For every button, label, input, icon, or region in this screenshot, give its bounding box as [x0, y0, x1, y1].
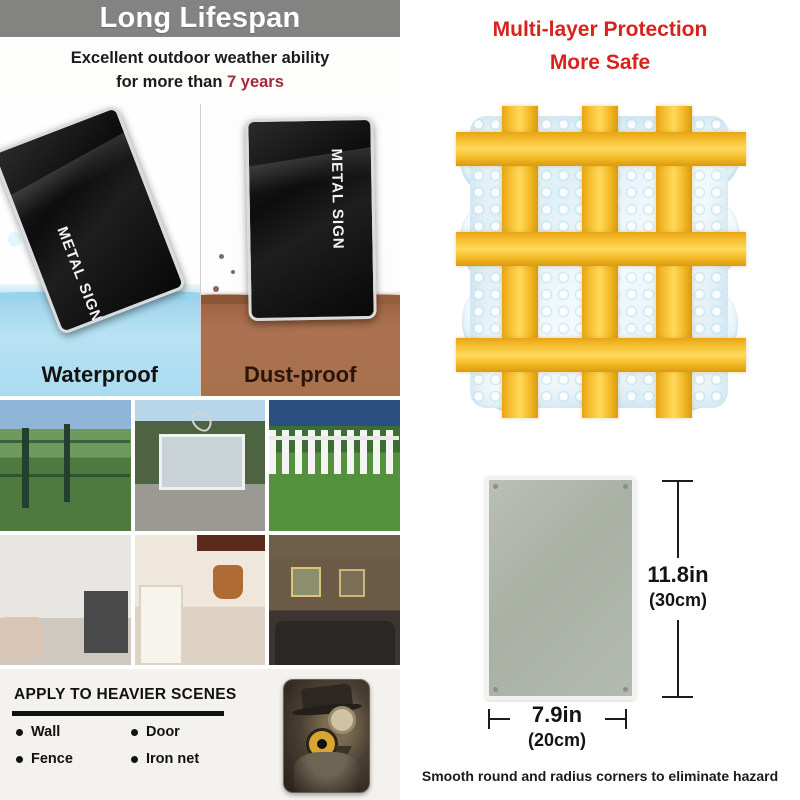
- width-value-inches: 7.9in: [501, 702, 613, 727]
- dust-speck: [231, 270, 235, 274]
- picket-rail: [269, 436, 399, 440]
- scene-bullet-list: Wall Door Fence Iron net: [16, 724, 246, 767]
- bullet-dot-icon: [16, 756, 23, 763]
- sofa: [275, 621, 395, 665]
- packaging-photo: [460, 110, 738, 415]
- left-column: Long Lifespan Excellent outdoor weather …: [0, 0, 400, 800]
- dimension-diagram: 11.8in (30cm) 7.9in (20cm) Smooth round …: [400, 450, 800, 800]
- protection-headline-line-2: More Safe: [400, 47, 800, 80]
- scene-label: Wall: [31, 724, 60, 740]
- subheading-accent: 7 years: [227, 73, 284, 91]
- corner-hole: [493, 687, 498, 692]
- subheading-block: Excellent outdoor weather ability for mo…: [0, 40, 400, 102]
- yellow-tape-horizontal: [456, 232, 746, 266]
- subheading-prefix: for more than: [116, 73, 227, 91]
- gable-ornament: [188, 407, 216, 435]
- protection-headline-line-1: Multi-layer Protection: [400, 14, 800, 47]
- corner-hole: [493, 484, 498, 489]
- product-infographic: Long Lifespan Excellent outdoor weather …: [0, 0, 800, 800]
- metal-sign-label: METAL SIGN: [53, 224, 105, 325]
- scene-label: Iron net: [146, 751, 199, 767]
- width-value-cm: (20cm): [501, 728, 613, 752]
- yellow-tape-horizontal: [456, 338, 746, 372]
- height-value-inches: 11.8in: [622, 562, 734, 587]
- application-photo-grid: [0, 400, 400, 665]
- height-dimension-cap-top: [662, 480, 693, 482]
- bullet-dot-icon: [16, 729, 23, 736]
- room-furniture: [0, 617, 42, 659]
- list-item: Door: [131, 724, 246, 740]
- dimension-caption: Smooth round and radius corners to elimi…: [400, 768, 800, 784]
- banner-title: Long Lifespan: [100, 4, 301, 33]
- height-dimension-line-top: [677, 480, 679, 558]
- wall-art: [291, 567, 321, 597]
- metal-sign-label: METAL SIGN: [327, 148, 346, 249]
- pendant-lamp: [213, 565, 243, 599]
- metal-sign-dustproof: METAL SIGN: [245, 117, 377, 321]
- ceiling-beam: [197, 535, 265, 551]
- waterproof-panel: METAL SIGN Waterproof: [0, 104, 201, 396]
- photo-white-interior-room: [0, 535, 131, 666]
- protection-headline: Multi-layer Protection More Safe: [400, 14, 800, 79]
- water-splash-droplet: [8, 232, 21, 247]
- owl-chest: [294, 752, 360, 792]
- dust-speck: [219, 254, 224, 259]
- owl-goggle-icon: [328, 706, 356, 734]
- height-value-cm: (30cm): [622, 588, 734, 612]
- dustproof-label: Dust-proof: [201, 362, 401, 388]
- hallway-door: [139, 585, 183, 665]
- yellow-tape-horizontal: [456, 132, 746, 166]
- owl-sign-thumbnail: [283, 679, 370, 793]
- garage-door: [159, 434, 245, 490]
- width-dimension-cap-right: [625, 709, 627, 729]
- photo-metal-mesh-fence: [0, 400, 131, 531]
- lifespan-banner: Long Lifespan: [0, 0, 400, 37]
- dust-speck: [213, 286, 219, 292]
- photo-green-house-garage: [135, 400, 266, 531]
- proof-panels: METAL SIGN Waterproof METAL SIGN Dust-pr…: [0, 104, 400, 396]
- fence-post: [64, 424, 70, 502]
- corner-hole: [623, 484, 628, 489]
- bullet-dot-icon: [131, 756, 138, 763]
- list-item: Fence: [16, 751, 131, 767]
- height-dimension-cap-bottom: [662, 696, 693, 698]
- list-item: Iron net: [131, 751, 246, 767]
- scene-label: Fence: [31, 751, 73, 767]
- wall-art: [339, 569, 365, 597]
- dustproof-panel: METAL SIGN Dust-proof: [201, 104, 401, 396]
- photo-hallway-with-door: [135, 535, 266, 666]
- sign-plate-preview: [485, 476, 636, 700]
- subheading-line-2: for more than 7 years: [116, 71, 284, 95]
- title-underline: [12, 711, 224, 716]
- fence-rail: [0, 474, 130, 477]
- room-cabinet: [84, 591, 128, 653]
- list-item: Wall: [16, 724, 131, 740]
- heavier-scenes-title: APPLY TO HEAVIER SCENES: [14, 686, 237, 704]
- right-column: Multi-layer Protection More Safe: [400, 0, 800, 800]
- height-dimension-line-bottom: [677, 620, 679, 698]
- fence-rail: [0, 440, 130, 443]
- corner-hole: [623, 687, 628, 692]
- waterproof-label: Waterproof: [0, 362, 200, 388]
- photo-living-room-sofa: [269, 535, 400, 666]
- subheading-line-1: Excellent outdoor weather ability: [71, 47, 330, 71]
- bullet-dot-icon: [131, 729, 138, 736]
- photo-white-picket-fence: [269, 400, 400, 531]
- scene-label: Door: [146, 724, 180, 740]
- width-dimension-cap-left: [488, 709, 490, 729]
